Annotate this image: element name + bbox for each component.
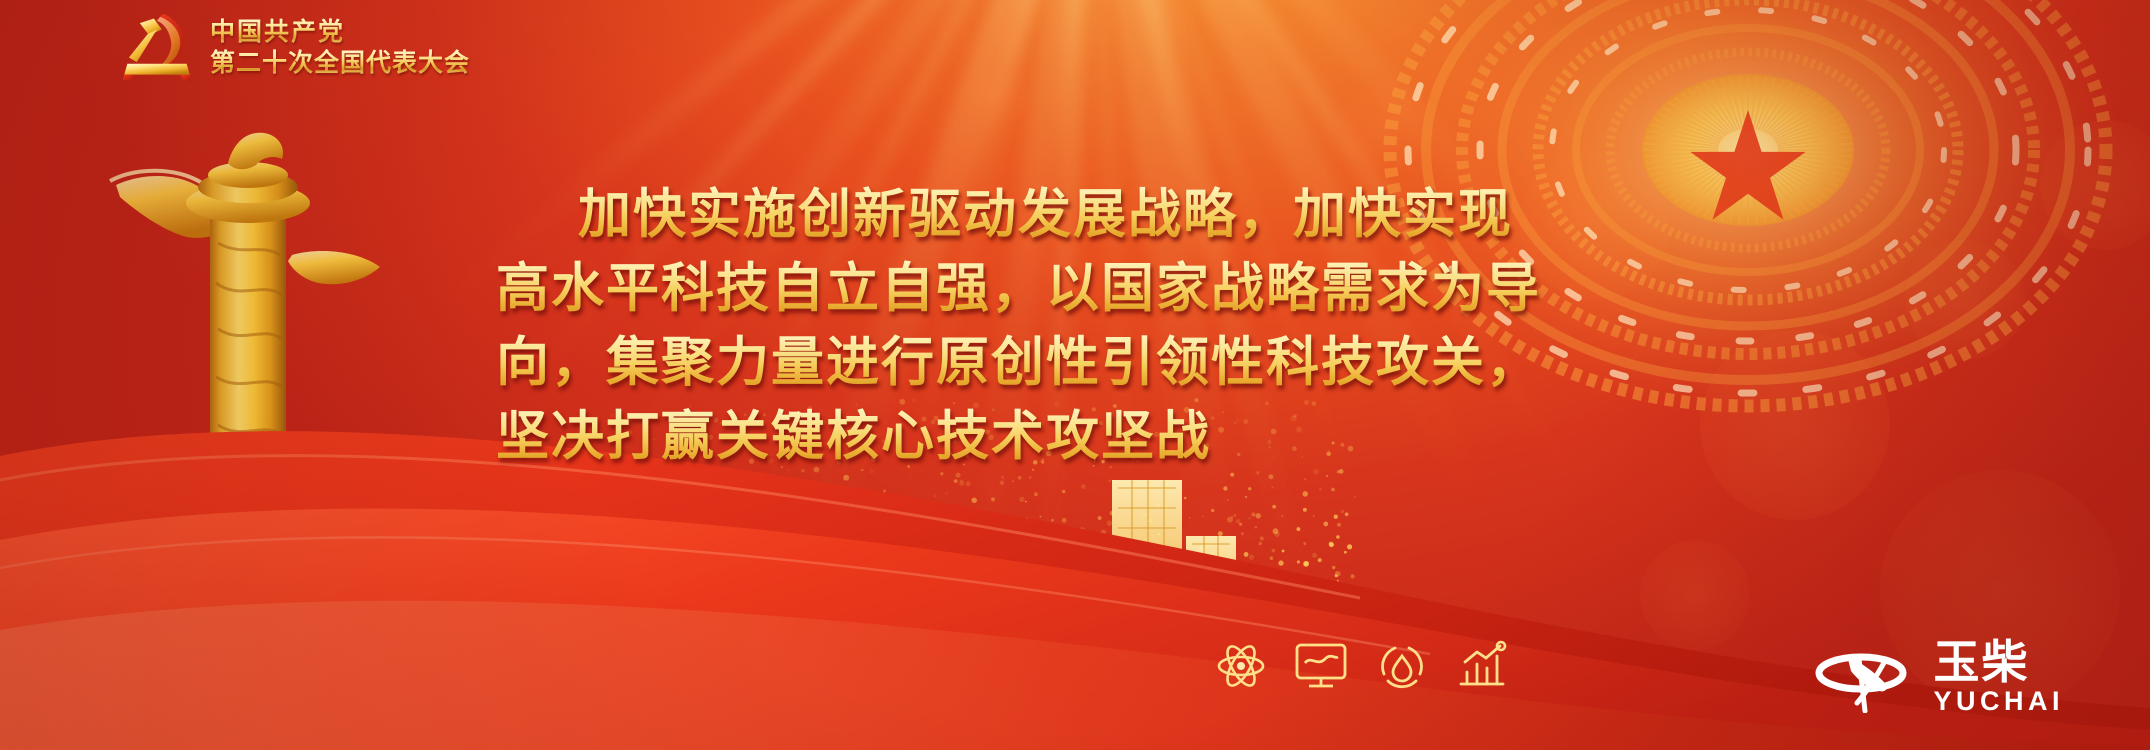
emblem-line-1: 中国共产党 (210, 18, 470, 46)
slogan-line-1: 加快实施创新驱动发展战略，加快实现 (496, 178, 1756, 252)
emblem-line-2: 第二十次全国代表大会 (210, 49, 470, 77)
slogan-block: 加快实施创新驱动发展战略，加快实现 高水平科技自立自强，以国家战略需求为导 向，… (496, 178, 1756, 474)
party-congress-emblem: 中国共产党 第二十次全国代表大会 (118, 6, 470, 84)
celebration-banner: 中国共产党 第二十次全国代表大会 加快实施创新驱动发展战略，加快实现 高水平科技… (0, 0, 2150, 750)
yuchai-logo: 玉柴 YUCHAI (1813, 638, 2064, 716)
slogan-line-2: 高水平科技自立自强，以国家战略需求为导 (496, 252, 1756, 326)
brand-name-en: YUCHAI (1933, 686, 2064, 716)
hammer-sickle-icon (118, 6, 196, 84)
brand-name-cn: 玉柴 (1933, 638, 2029, 686)
yuchai-ellipse-mark-icon (1813, 641, 1917, 713)
slogan-line-4: 坚决打赢关键核心技术攻坚战 (496, 400, 1756, 474)
slogan-line-3: 向，集聚力量进行原创性引领性科技攻关， (496, 326, 1756, 400)
